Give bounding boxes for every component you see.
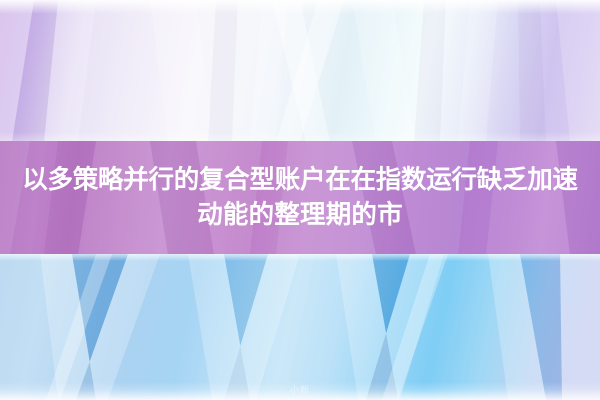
- bottom-gradient-band: [0, 254, 600, 400]
- headline-line-1: 以多策略并行的复合型账户在在指数运行缺乏加速: [22, 163, 578, 198]
- top-band-highlight: [0, 0, 600, 14]
- top-gradient-band: [0, 0, 600, 142]
- decorative-banner: 以多策略并行的复合型账户在在指数运行缺乏加速 动能的整理期的市 小新: [0, 0, 600, 400]
- bottom-facet-overlay: [0, 254, 600, 400]
- watermark-label: 小新: [0, 383, 600, 396]
- headline-block: 以多策略并行的复合型账户在在指数运行缺乏加速 动能的整理期的市: [0, 141, 600, 255]
- top-facet-overlay: [0, 0, 600, 142]
- bottom-band-top-fade: [0, 254, 600, 261]
- headline-line-2: 动能的整理期的市: [197, 198, 403, 233]
